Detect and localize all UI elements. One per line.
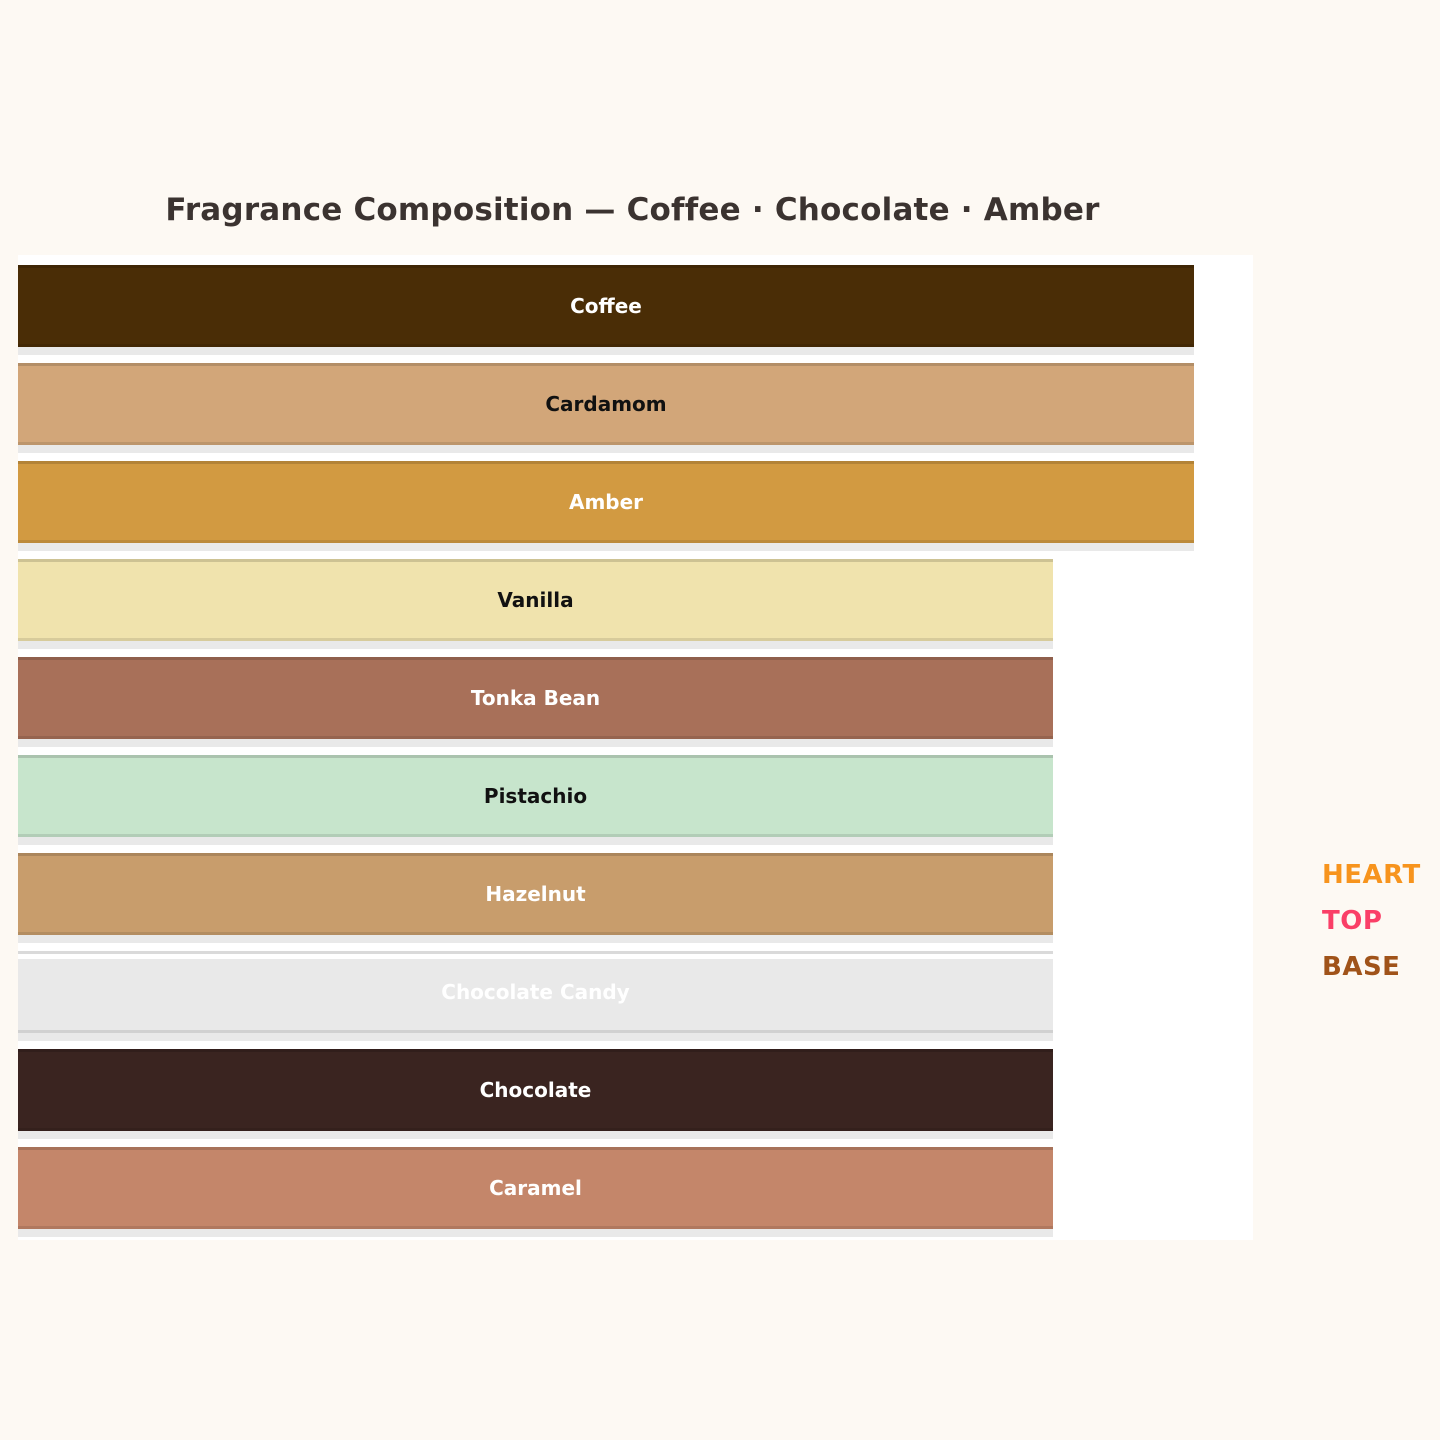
bar-row[interactable]: Cardamom (18, 363, 1253, 461)
bar-fill[interactable] (18, 951, 1053, 1033)
legend-item-heart[interactable]: HEART (1322, 852, 1440, 898)
bar-fill[interactable] (18, 853, 1053, 935)
bar-fill[interactable] (18, 657, 1053, 739)
page-title: Fragrance Composition — Coffee · Chocola… (0, 192, 1265, 228)
bar-row[interactable]: Vanilla (18, 559, 1253, 657)
bar-fill[interactable] (18, 461, 1194, 543)
legend-item-base[interactable]: BASE (1322, 944, 1440, 990)
figure-root: Fragrance Composition — Coffee · Chocola… (0, 0, 1440, 1440)
bar-fill[interactable] (18, 265, 1194, 347)
bar-fill[interactable] (18, 755, 1053, 837)
bar-fill[interactable] (18, 1147, 1053, 1229)
bar-row[interactable]: Tonka Bean (18, 657, 1253, 755)
bar-row[interactable]: Chocolate (18, 1049, 1253, 1147)
bar-row[interactable]: Amber (18, 461, 1253, 559)
bar-fill[interactable] (18, 1049, 1053, 1131)
legend: HEARTTOPBASE (1322, 852, 1440, 990)
plot-area: CoffeeCardamomAmberVanillaTonka BeanPist… (18, 255, 1253, 1240)
bar-row[interactable]: Caramel (18, 1147, 1253, 1245)
bar-fill[interactable] (18, 559, 1053, 641)
legend-item-top[interactable]: TOP (1322, 898, 1440, 944)
bar-row[interactable]: Coffee (18, 265, 1253, 363)
figure-canvas: Fragrance Composition — Coffee · Chocola… (0, 180, 1440, 1265)
bar-row[interactable]: Chocolate Candy (18, 951, 1253, 1049)
bar-fill[interactable] (18, 363, 1194, 445)
bar-row[interactable]: Pistachio (18, 755, 1253, 853)
bar-row[interactable]: Hazelnut (18, 853, 1253, 951)
